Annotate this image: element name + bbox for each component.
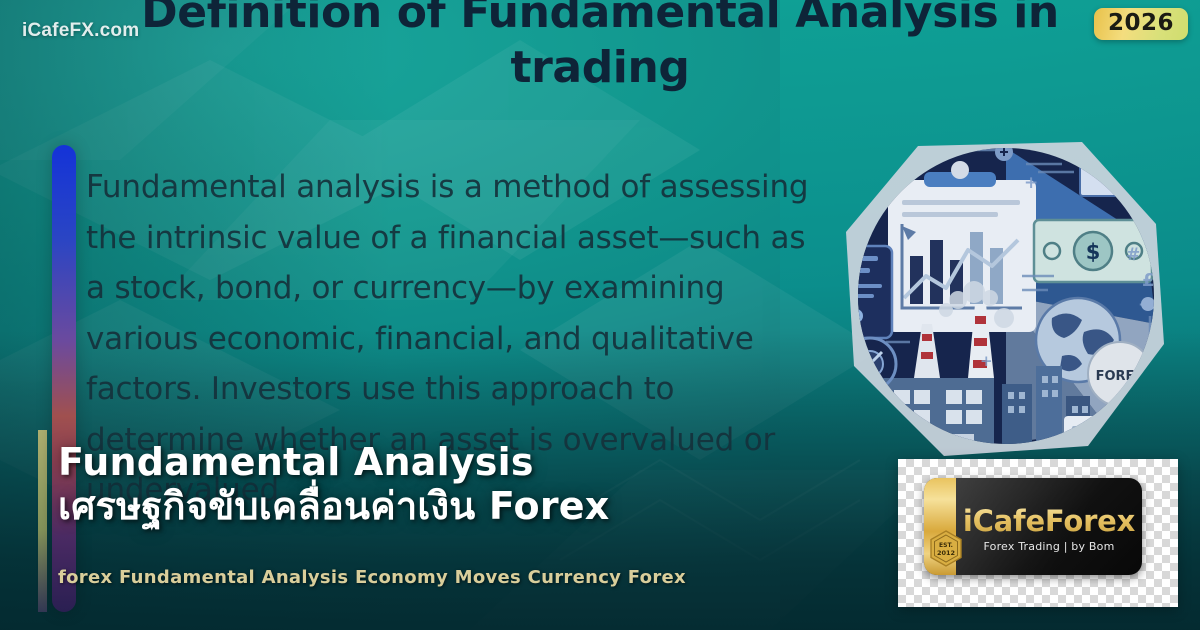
forex-infographic: $ FOREX <box>826 128 1182 464</box>
svg-text:+: + <box>980 352 993 370</box>
site-watermark: iCafeFX.com <box>22 20 139 42</box>
est-hexagon-badge: EST. 2012 <box>929 530 963 567</box>
overlay-title-en: Fundamental Analysis <box>58 440 534 484</box>
year-badge: 2026 <box>1094 8 1188 40</box>
left-accent-bar <box>52 145 76 612</box>
svg-text:#: # <box>1126 245 1140 265</box>
svg-text:$: $ <box>1086 240 1101 264</box>
logo-tagline: Forex Trading | by Bom <box>956 540 1142 553</box>
est-year: 2012 <box>937 549 955 557</box>
svg-text:+: + <box>1024 173 1038 193</box>
logo-panel: iCafeForex Forex Trading | by Bom EST. 2… <box>898 459 1178 607</box>
est-label: EST. <box>939 542 953 549</box>
overlay-title-th: เศรษฐกิจขับเคลื่อนค่าเงิน Forex <box>58 484 609 528</box>
logo-brand-name: iCafeForex <box>956 504 1142 538</box>
social-card: Definition of Fundamental Analysis in tr… <box>0 0 1200 630</box>
logo-card[interactable]: iCafeForex Forex Trading | by Bom EST. 2… <box>924 478 1142 575</box>
page-title: Definition of Fundamental Analysis in tr… <box>0 0 1200 95</box>
svg-text:+: + <box>870 430 883 448</box>
overlay-title: Fundamental Analysis เศรษฐกิจขับเคลื่อนค… <box>58 440 609 528</box>
overlay-tags: forex Fundamental Analysis Economy Moves… <box>58 567 686 588</box>
secondary-accent-bar <box>38 430 47 612</box>
